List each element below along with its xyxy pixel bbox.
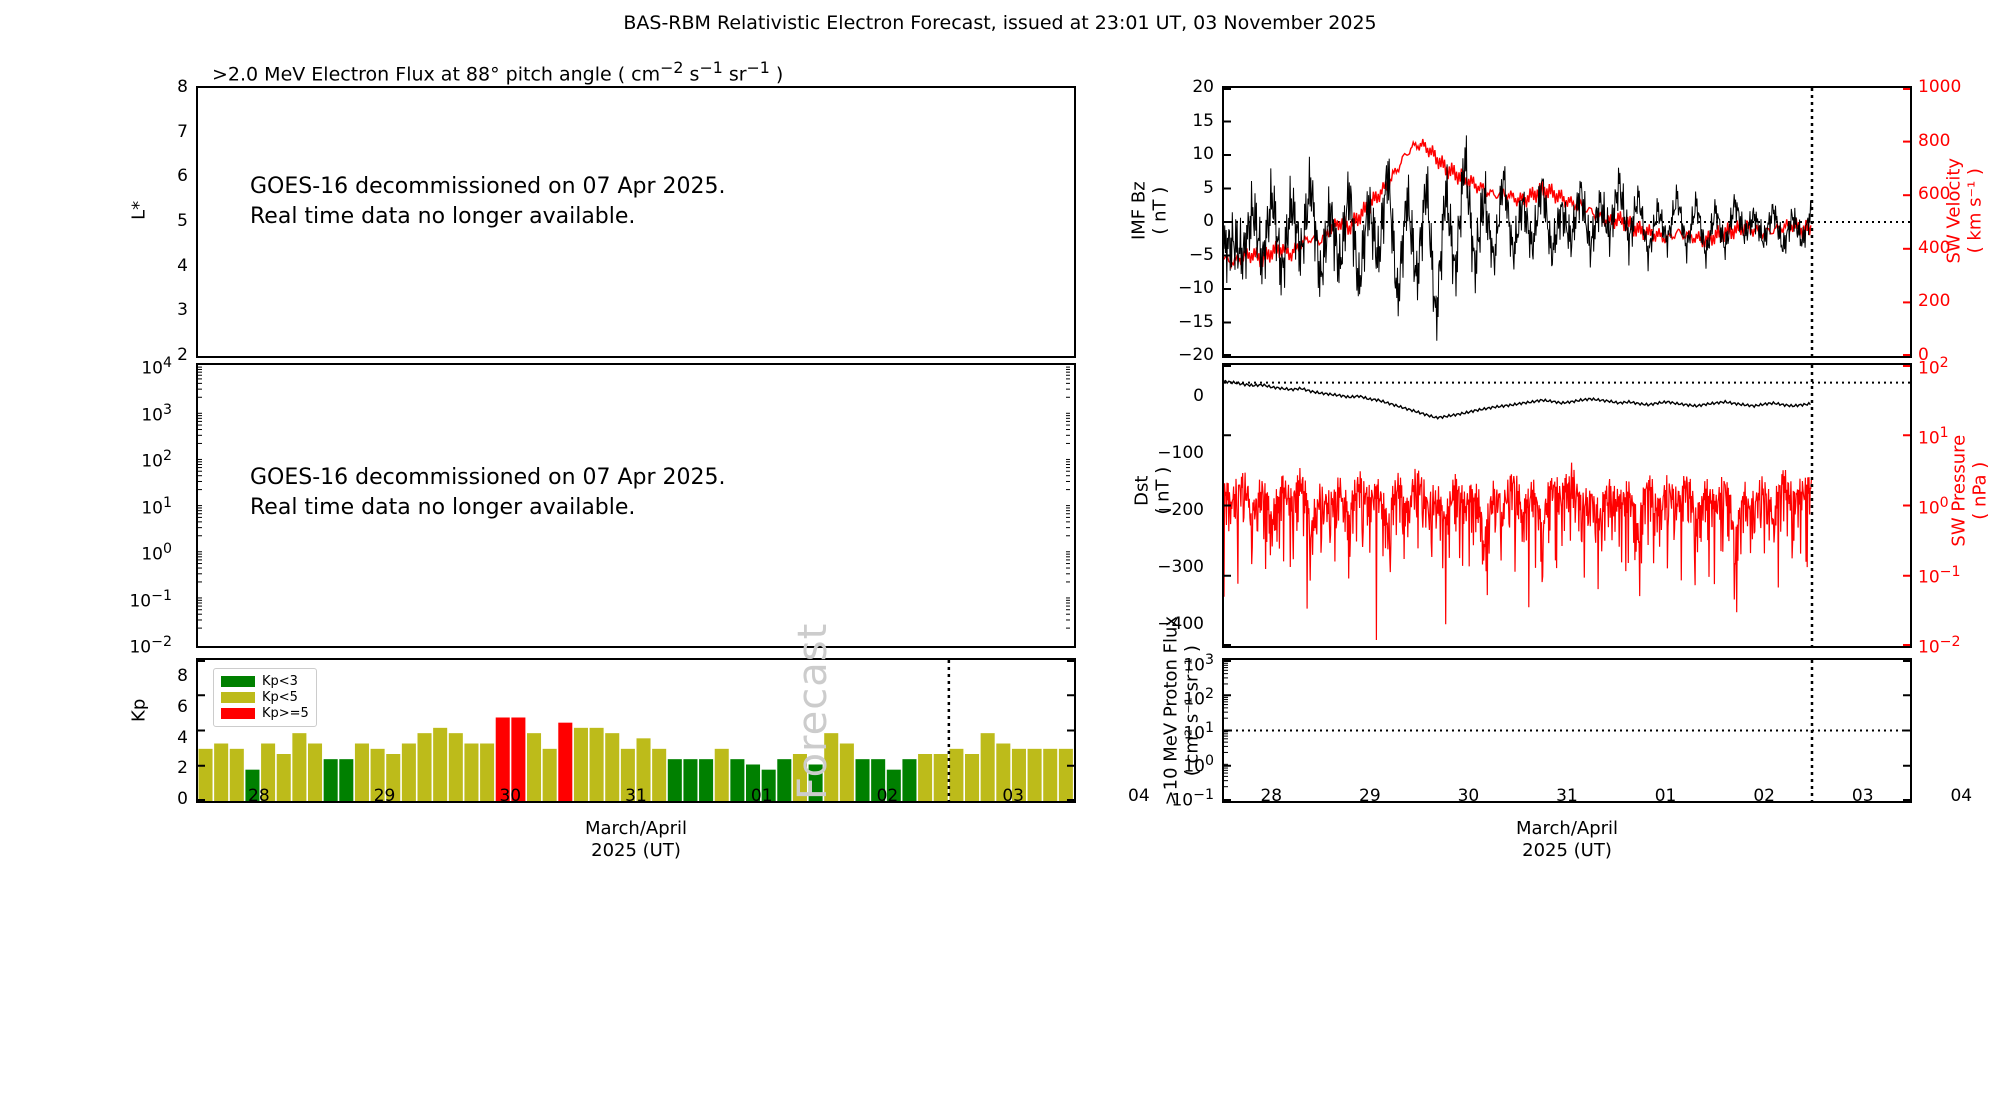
kp-legend-item: Kp>=5 xyxy=(221,706,309,721)
ytick-label: 10−2 xyxy=(1918,634,1982,658)
ytick-label: 6 xyxy=(124,166,188,186)
legend-swatch-icon xyxy=(221,676,255,687)
forecast-watermark: Forecast xyxy=(790,623,836,800)
subtitle-exp-1: −2 xyxy=(660,58,683,77)
ytick-label: 0 xyxy=(1140,386,1204,406)
ytick-label: 4 xyxy=(124,728,188,748)
xtick-label: 31 xyxy=(606,786,666,806)
flux-no-data-message: GOES-16 decommissioned on 07 Apr 2025. R… xyxy=(250,463,726,522)
xtick-label: 03 xyxy=(1833,786,1893,806)
ytick-label: 7 xyxy=(124,122,188,142)
xtick-label: 03 xyxy=(983,786,1043,806)
ytick-label: 102 xyxy=(1918,355,1982,379)
xtick-label: 29 xyxy=(1340,786,1400,806)
ytick-label: 3 xyxy=(124,300,188,320)
imf-ylabel-line1: IMF Bz xyxy=(1129,151,1150,271)
xtick-label: 02 xyxy=(857,786,917,806)
ytick-label: 10−1 xyxy=(1918,564,1982,588)
ytick-label: 4 xyxy=(124,256,188,276)
ytick-label: 10 xyxy=(1150,144,1214,164)
ytick-label: 100 xyxy=(1918,495,1982,519)
ytick-label: 8 xyxy=(124,77,188,97)
ytick-label: 102 xyxy=(1150,686,1214,710)
ytick-label: 400 xyxy=(1918,238,1982,258)
kp-bar-chart xyxy=(198,660,1074,801)
subtitle-text-b: pitch angle ( cm xyxy=(500,63,661,85)
ytick-label: 101 xyxy=(1918,425,1982,449)
right-xaxis-caption-line2: 2025 (UT) xyxy=(1222,840,1912,862)
xtick-label: 29 xyxy=(355,786,415,806)
ytick-label: 800 xyxy=(1918,131,1982,151)
ytick-label: 600 xyxy=(1918,184,1982,204)
dst-panel xyxy=(1222,363,1912,648)
ytick-label: 104 xyxy=(108,355,172,379)
ytick-label: 103 xyxy=(1150,652,1214,676)
degree-symbol: ° xyxy=(490,63,500,85)
ytick-label: −15 xyxy=(1150,312,1214,332)
xtick-label: 30 xyxy=(480,786,540,806)
ytick-label: 5 xyxy=(1150,178,1214,198)
proton-flux-chart xyxy=(1224,660,1910,801)
legend-label: Kp<3 xyxy=(262,674,298,689)
forecast-figure: BAS-RBM Relativistic Electron Forecast, … xyxy=(0,0,2000,1100)
ytick-label: −300 xyxy=(1140,557,1204,577)
left-xaxis-caption-line1: March/April xyxy=(196,818,1076,840)
dst-chart xyxy=(1224,365,1910,646)
legend-swatch-icon xyxy=(221,708,255,719)
subtitle-text-e: ) xyxy=(770,63,783,85)
legend-label: Kp>=5 xyxy=(262,706,309,721)
xtick-label: 02 xyxy=(1734,786,1794,806)
ytick-label: 200 xyxy=(1918,291,1982,311)
ytick-label: 2 xyxy=(124,758,188,778)
ytick-label: −10 xyxy=(1150,278,1214,298)
xtick-label: 30 xyxy=(1438,786,1498,806)
xtick-label: 01 xyxy=(1636,786,1696,806)
ytick-label: 0 xyxy=(1150,211,1214,231)
kp-legend: Kp<3Kp<5Kp>=5 xyxy=(213,668,317,727)
subtitle-text-a: >2.0 MeV Electron Flux at 88 xyxy=(212,63,490,85)
xtick-label: 31 xyxy=(1537,786,1597,806)
ytick-label: 10−1 xyxy=(1150,787,1214,811)
subtitle-exp-3: −1 xyxy=(747,58,770,77)
ytick-label: 100 xyxy=(1150,753,1214,777)
left-xaxis-caption-line2: 2025 (UT) xyxy=(196,840,1076,862)
ytick-label: −5 xyxy=(1150,245,1214,265)
ytick-label: 20 xyxy=(1150,77,1214,97)
subtitle-exp-2: −1 xyxy=(699,58,722,77)
ytick-label: 0 xyxy=(124,789,188,809)
ytick-label: 15 xyxy=(1150,111,1214,131)
kp-legend-item: Kp<3 xyxy=(221,674,309,689)
ytick-label: 10−1 xyxy=(108,588,172,612)
ytick-label: −200 xyxy=(1140,500,1204,520)
ytick-label: 100 xyxy=(108,541,172,565)
ytick-label: −20 xyxy=(1150,345,1214,365)
ytick-label: 101 xyxy=(1150,720,1214,744)
ytick-label: 5 xyxy=(124,211,188,231)
ytick-label: 102 xyxy=(108,448,172,472)
electron-flux-subtitle: >2.0 MeV Electron Flux at 88° pitch angl… xyxy=(212,58,783,85)
ytick-label: 103 xyxy=(108,402,172,426)
xtick-label: 28 xyxy=(229,786,289,806)
ytick-label: 1000 xyxy=(1918,77,1982,97)
imf-bz-panel xyxy=(1222,86,1912,358)
ytick-label: 10−2 xyxy=(108,634,172,658)
xtick-label: 01 xyxy=(732,786,792,806)
xtick-label: 28 xyxy=(1241,786,1301,806)
kp-legend-item: Kp<5 xyxy=(221,690,309,705)
right-xaxis-caption-line1: March/April xyxy=(1222,818,1912,840)
lstar-no-data-message: GOES-16 decommissioned on 07 Apr 2025. R… xyxy=(250,172,726,231)
xtick-label: 04 xyxy=(1931,786,1991,806)
ytick-label: 101 xyxy=(108,495,172,519)
kp-panel xyxy=(196,658,1076,803)
figure-title: BAS-RBM Relativistic Electron Forecast, … xyxy=(0,12,2000,34)
legend-label: Kp<5 xyxy=(262,690,298,705)
proton-flux-panel xyxy=(1222,658,1912,803)
ytick-label: 8 xyxy=(124,666,188,686)
imf-bz-chart xyxy=(1224,88,1910,356)
subtitle-text-c: s xyxy=(683,63,699,85)
legend-swatch-icon xyxy=(221,692,255,703)
subtitle-text-d: sr xyxy=(723,63,747,85)
ytick-label: −100 xyxy=(1140,443,1204,463)
ytick-label: 6 xyxy=(124,697,188,717)
